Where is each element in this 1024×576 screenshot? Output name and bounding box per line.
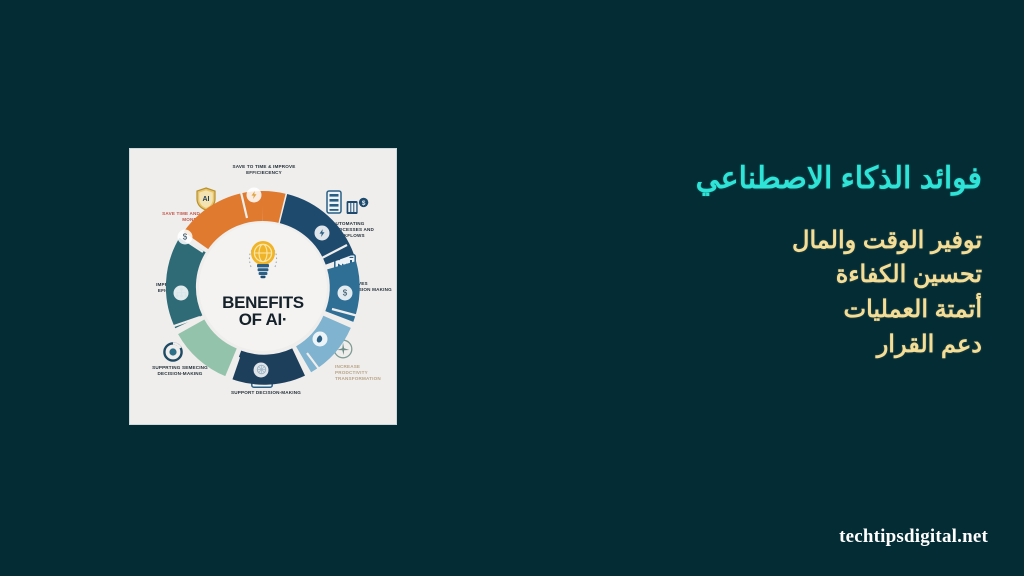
node-lightning-right xyxy=(315,225,330,240)
label-save-to-time: SAVE TO TIME & IMPROVE EFFICIECENCY xyxy=(228,164,300,176)
benefit-item-3: أتمتة العمليات xyxy=(520,293,982,328)
node-leaf-bottom-right xyxy=(313,331,328,346)
hub-title-line1: BENEFITS xyxy=(222,294,304,311)
lightbulb-globe-icon xyxy=(245,237,281,286)
hub-title-line2: OF AI· xyxy=(222,311,304,328)
benefits-ring: $ $ xyxy=(157,181,369,393)
ring-hub: BENEFITS OF AI· xyxy=(199,223,327,351)
segment-save-time-improve-efficiency-b xyxy=(263,206,282,208)
hub-title: BENEFITS OF AI· xyxy=(222,294,304,329)
text-panel: فوائد الذكاء الاصطناعي توفير الوقت والما… xyxy=(520,160,990,363)
benefit-item-2: تحسين الكفاءة xyxy=(520,258,982,293)
infographic-card: SAVE TO TIME & IMPROVE EFFICIECENCY SAVE… xyxy=(129,148,397,425)
segment-improving-efficiency xyxy=(181,244,193,321)
node-network-globe-bottom xyxy=(254,362,269,377)
site-url: techtipsdigital.net xyxy=(0,526,988,548)
benefit-item-1: توفير الوقت والمال xyxy=(520,224,982,259)
page-title: فوائد الذكاء الاصطناعي xyxy=(520,160,990,198)
node-lightning-top xyxy=(247,187,262,202)
benefit-item-4: دعم القرار xyxy=(520,328,982,363)
node-dollar-top: $ xyxy=(178,229,193,244)
node-dollar-right: $ xyxy=(338,285,353,300)
node-hierarchy-left xyxy=(174,285,189,300)
infographic-canvas: SAVE TO TIME & IMPROVE EFFICIECENCY SAVE… xyxy=(130,149,396,424)
benefits-list: توفير الوقت والمال تحسين الكفاءة أتمتة ا… xyxy=(520,224,990,363)
